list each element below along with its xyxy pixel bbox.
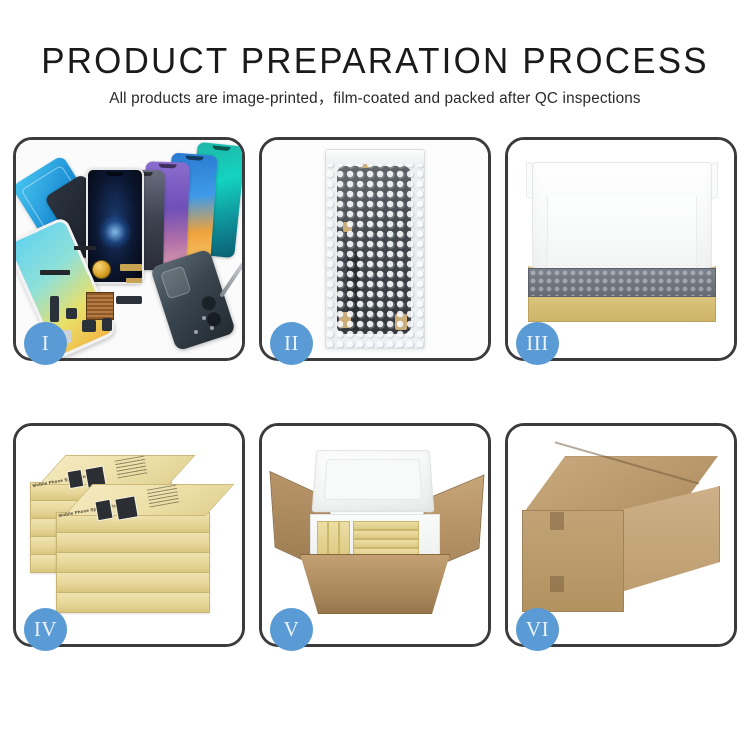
outer-carton-open — [300, 554, 450, 614]
carton-front-face — [522, 510, 624, 612]
process-step-4: Mobile Phone Spare Parts Mobile Phone Sp… — [13, 423, 245, 647]
process-step-6: VI — [505, 423, 737, 647]
inner-box-v3 — [339, 521, 350, 557]
step-badge-5: V — [270, 608, 313, 651]
screw-part-a — [202, 316, 206, 320]
vibrator-part — [66, 308, 77, 319]
process-step-1: I — [13, 137, 245, 361]
inner-box-v2 — [328, 521, 339, 557]
stacked-box-f5 — [56, 592, 210, 613]
product-preparation-infographic: PRODUCT PREPARATION PROCESS All products… — [0, 0, 750, 750]
inner-box-v1 — [317, 521, 328, 557]
box-print-window-b1 — [67, 469, 85, 489]
logic-board-part — [86, 292, 114, 320]
stacked-box-f3 — [56, 552, 210, 573]
process-step-3: III — [505, 137, 737, 361]
bubble-filled-interior — [528, 268, 716, 297]
step-badge-6: VI — [516, 608, 559, 651]
antenna-strip-part — [74, 246, 96, 250]
step-badge-2: II — [270, 322, 313, 365]
ribbon-cable-part — [116, 296, 142, 304]
step-badge-1: I — [24, 322, 67, 365]
speaker-coil-part — [92, 260, 111, 279]
button-part — [102, 318, 112, 331]
foam-lid — [532, 162, 712, 282]
screw-part-c — [194, 330, 198, 334]
earpiece-mesh-part — [40, 270, 70, 275]
flex-connector-part — [120, 264, 142, 271]
foam-box-lid — [312, 450, 435, 512]
page-subtitle: All products are image-printed，film-coat… — [0, 82, 750, 109]
box-print-window-f1 — [94, 499, 113, 521]
bag-seal-top — [326, 150, 424, 164]
process-step-2: II — [259, 137, 491, 361]
screw-part-b — [210, 326, 214, 330]
stacked-box-f4 — [56, 572, 210, 593]
process-step-grid: I — [13, 137, 737, 647]
gold-contact-part — [126, 278, 142, 283]
side-flex-part — [50, 296, 59, 322]
box-print-window-f2 — [114, 495, 139, 520]
carton-tape-lower — [550, 576, 564, 592]
bubble-texture — [326, 150, 424, 348]
carton-tape-upper — [550, 512, 564, 530]
page-title: PRODUCT PREPARATION PROCESS — [11, 0, 739, 82]
step-badge-4: IV — [24, 608, 67, 651]
camera-module-part — [82, 320, 96, 332]
inner-box-h3 — [353, 539, 419, 548]
inner-box-h2 — [353, 530, 419, 539]
header: PRODUCT PREPARATION PROCESS All products… — [0, 0, 750, 109]
step-badge-3: III — [516, 322, 559, 365]
stacked-box-f2 — [56, 532, 210, 553]
bubble-wrap-bag — [325, 149, 425, 349]
inner-box-h1 — [353, 521, 419, 530]
process-step-5: V — [259, 423, 491, 647]
